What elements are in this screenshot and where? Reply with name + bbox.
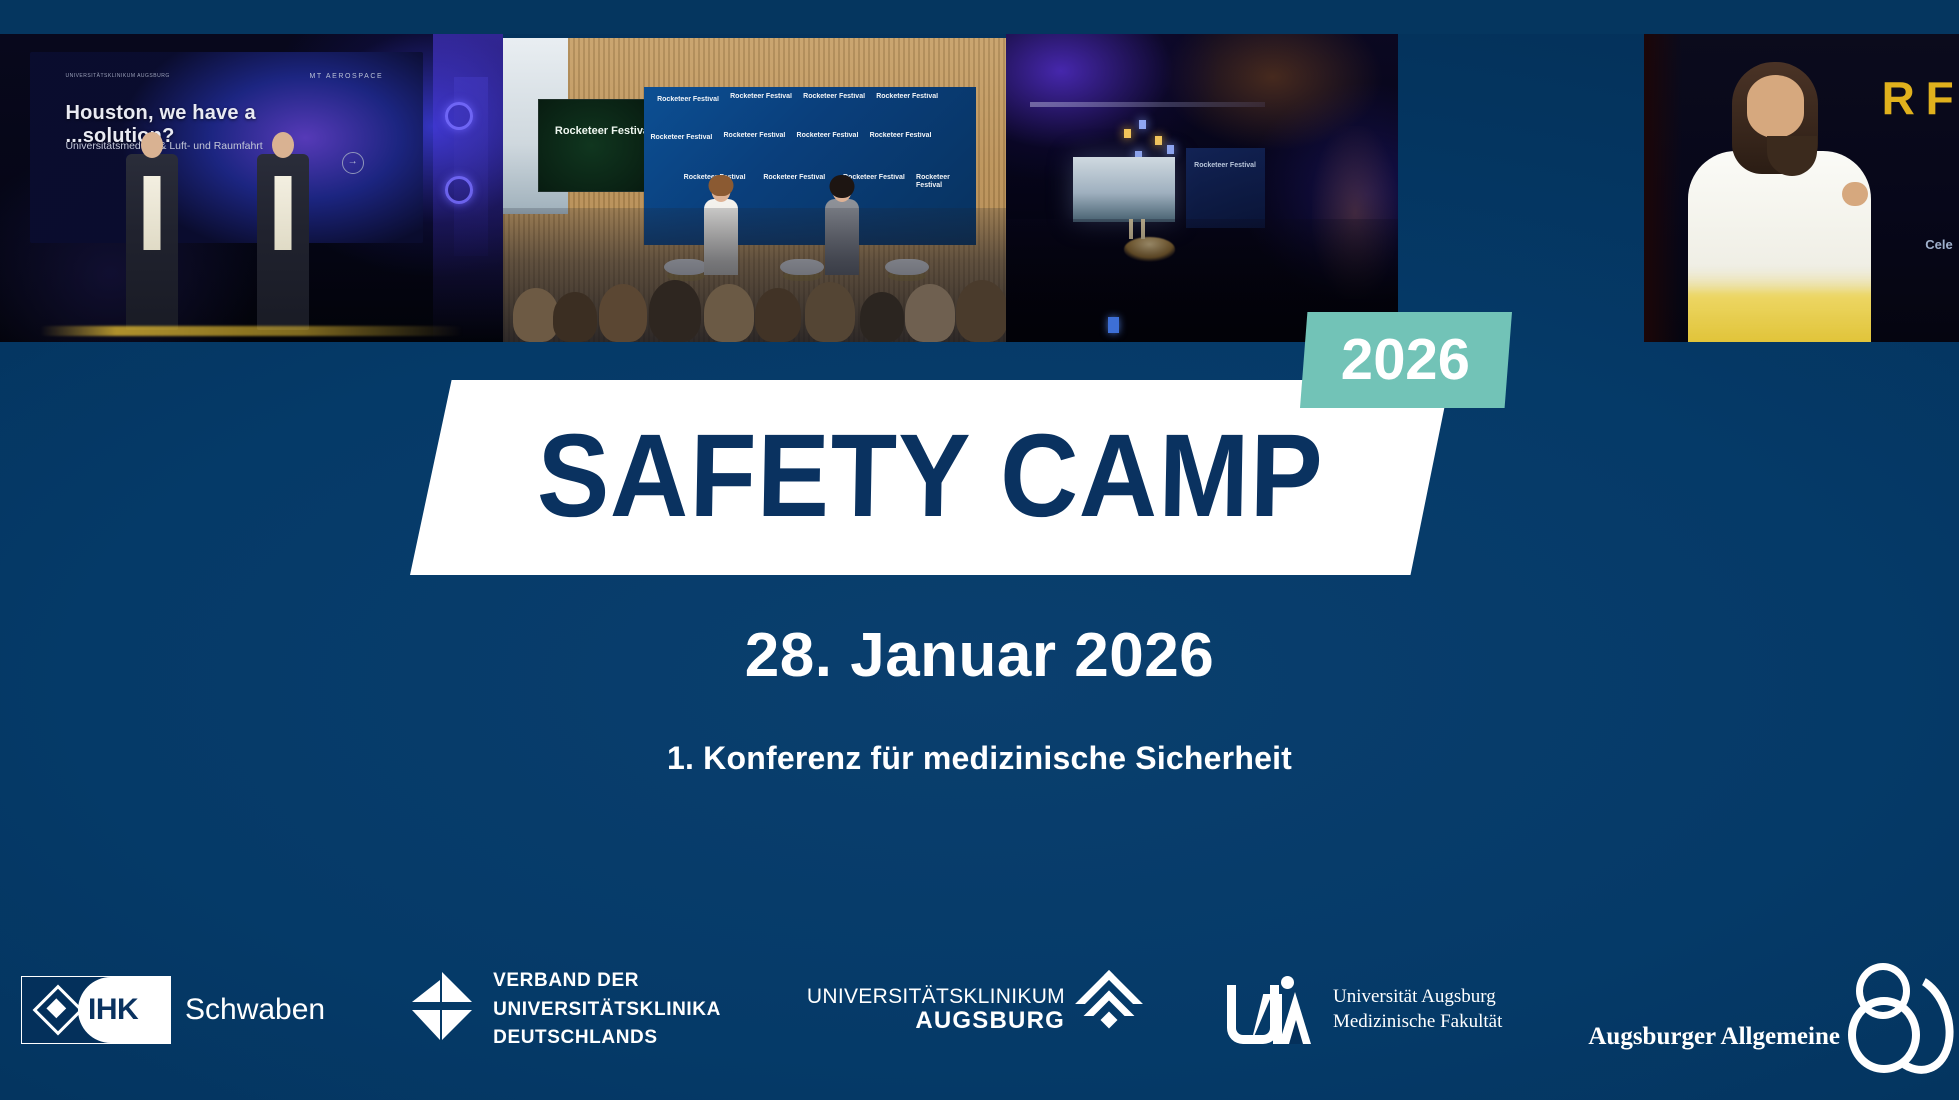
photo1-slide-subheading: Universitätsmedizin & Luft- und Raumfahr… [65,140,347,152]
event-poster: UNIVERSITÄTSKLINIKUM AUGSBURG MT AEROSPA… [0,0,1959,1100]
sponsor-logo-row: IHK Schwaben VERBAND DER UNIVERSITÄTSKLI… [0,945,1959,1075]
year-badge: 2026 [1300,312,1512,408]
photo4-speaker-hand [1842,182,1868,206]
backdrop-tag: Rocketeer Festival [803,93,865,101]
photo3-lighting-truss [1030,102,1265,107]
backdrop-tag: Rocketeer Festival [724,132,786,140]
unia-dot-icon [1281,976,1294,989]
photo1-speaker-shirt [143,176,160,250]
logo-augsburger-allgemeine: Augsburger Allgemeine [1588,955,1938,1065]
uka-line-1: UNIVERSITÄTSKLINIKUM [807,985,1065,1009]
photo-stage-two-speakers: UNIVERSITÄTSKLINIKUM AUGSBURG MT AEROSPA… [0,34,503,342]
photo-speaker-portrait: R F Cele [1644,34,1959,342]
logo-ihk-schwaben: IHK Schwaben [21,955,325,1065]
photo1-slide-logo-right: MT AEROSPACE [309,73,383,80]
vud-triangle [412,1010,440,1040]
photo3-banner-text: Rocketeer Festival [1194,162,1256,170]
vud-pinwheel-icon [411,972,475,1048]
backdrop-tag: Rocketeer Festival [657,96,719,104]
photo2-screen-text: Rocketeer Festival [555,125,652,137]
unia-letter-a-counter [1289,1020,1303,1044]
ihk-word: Schwaben [185,993,325,1027]
backdrop-tag: Rocketeer Festival [870,132,932,140]
photo3-banner: Rocketeer Festival [1186,148,1264,228]
arrow-right-icon: → [342,152,364,174]
photo4-backdrop-initials: R F [1882,77,1953,121]
photo2-panelist-head [832,179,851,202]
backdrop-tag: Rocketeer Festival [876,93,938,101]
event-date: 28. Januar 2026 [0,620,1959,691]
page-title: SAFETY CAMP [536,417,1324,535]
headline-banner: SAFETY CAMP [410,380,1450,575]
unia-line-2: Medizinische Fakultät [1333,1010,1502,1035]
photo-band: UNIVERSITÄTSKLINIKUM AUGSBURG MT AEROSPA… [0,34,1959,342]
unia-line-1: Universität Augsburg [1333,985,1502,1010]
vud-line-1: VERBAND DER [493,967,721,996]
aa-wordmark: Augsburger Allgemeine [1588,1023,1840,1065]
stage-lamp-icon [1124,129,1131,138]
unia-logo-mark [1227,976,1319,1044]
photo2-audience [503,208,1006,342]
photo1-speaker [257,154,309,330]
photo1-speaker-head [141,132,163,158]
unia-wordmark: Universität Augsburg Medizinische Fakult… [1333,985,1502,1034]
logo-universitaetsklinikum-augsburg: UNIVERSITÄTSKLINIKUM AUGSBURG [807,955,1141,1065]
ihk-abbr: IHK [88,993,138,1027]
vud-triangle [442,1010,472,1040]
photo1-speaker-shirt [274,176,291,250]
event-subtitle: 1. Konferenz für medizinische Sicherheit [0,740,1959,777]
backdrop-tag: Rocketeer Festival [916,174,976,190]
photo4-vignette [1644,34,1682,342]
vud-triangle [442,972,472,1002]
photo1-speaker [126,154,178,330]
photo1-presentation-screen: UNIVERSITÄTSKLINIKUM AUGSBURG MT AEROSPA… [30,52,422,243]
stage-lamp-icon [1155,136,1162,145]
vud-line-3: DEUTSCHLANDS [493,1024,721,1053]
logo-verband-universitaetsklinika: VERBAND DER UNIVERSITÄTSKLINIKA DEUTSCHL… [411,955,721,1065]
vud-line-2: UNIVERSITÄTSKLINIKA [493,996,721,1025]
uka-wordmark: UNIVERSITÄTSKLINIKUM AUGSBURG [807,985,1065,1035]
photo1-stage-light-icon [445,102,473,130]
backdrop-tag: Rocketeer Festival [763,174,825,182]
photo1-speaker-head [272,132,294,158]
ihk-diamond-icon [36,984,80,1036]
backdrop-tag: Rocketeer Festival [650,134,712,142]
headline-lockup: SAFETY CAMP 2026 [0,330,1959,590]
ihk-logo-mark: IHK [21,976,171,1044]
photo1-stage-light-icon [445,176,473,204]
photo2-panelist-head [712,179,731,202]
photo-rocketeer-festival-panel: Rocketeer Festival Rocketeer Festival Ro… [503,38,1006,342]
stage-lamp-icon [1139,120,1146,129]
logo-universitaet-augsburg-medizinische-fakultaet: Universität Augsburg Medizinische Fakult… [1227,955,1502,1065]
stage-lamp-icon [1167,145,1174,154]
backdrop-tag: Rocketeer Festival [797,132,859,140]
top-navy-strip [0,0,1959,34]
year-badge-label: 2026 [1341,331,1471,389]
photo4-backdrop-subtext: Cele [1925,237,1952,252]
photo-auditorium-main-stage: Rocketeer Festival [1006,34,1398,342]
vud-triangle [412,980,440,1002]
uka-line-2: AUGSBURG [807,1008,1065,1035]
aa-eight-icon [1842,961,1938,1065]
photo1-slide-logo-left: UNIVERSITÄTSKLINIKUM AUGSBURG [65,73,169,79]
backdrop-tag: Rocketeer Festival [730,93,792,101]
uka-chevron-diamond-icon [1077,974,1141,1046]
vud-wordmark: VERBAND DER UNIVERSITÄTSKLINIKA DEUTSCHL… [493,967,721,1053]
photo3-stage-screen [1073,157,1175,222]
